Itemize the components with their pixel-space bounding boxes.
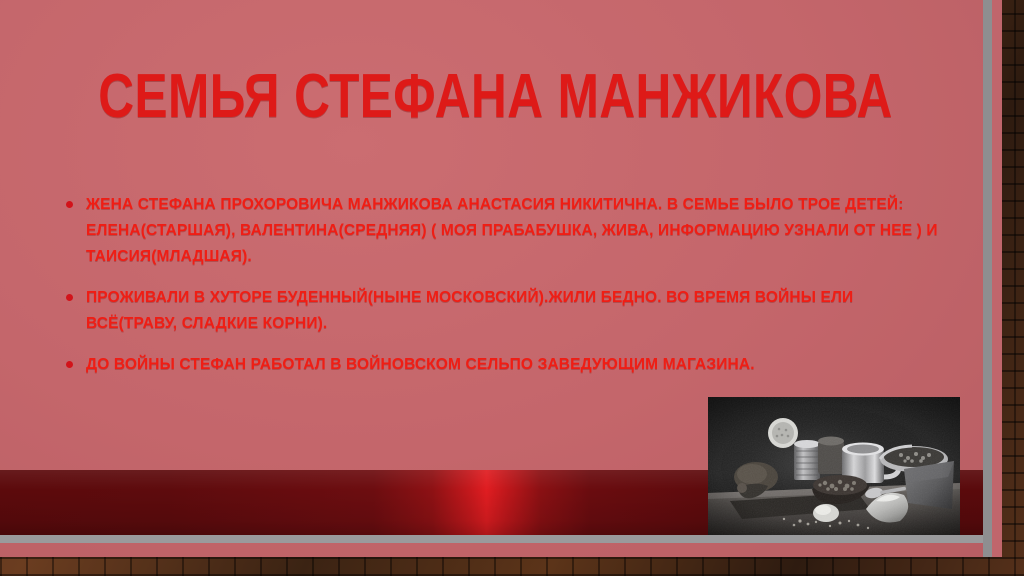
- bullet-dot-icon: [66, 294, 73, 301]
- list-item-text: ДО ВОЙНЫ СТЕФАН РАБОТАЛ В ВОЙНОВСКОМ СЕЛ…: [86, 352, 942, 378]
- bullet-list: ЖЕНА СТЕФАНА ПРОХОРОВИЧА МАНЖИКОВА АНАСТ…: [62, 192, 942, 378]
- bullet-dot-icon: [66, 361, 73, 368]
- right-vertical-rule: [983, 0, 992, 557]
- list-item: ЖЕНА СТЕФАНА ПРОХОРОВИЧА МАНЖИКОВА АНАСТ…: [62, 192, 942, 270]
- wartime-rations-photo-graphic: [708, 397, 960, 535]
- list-item: ДО ВОЙНЫ СТЕФАН РАБОТАЛ В ВОЙНОВСКОМ СЕЛ…: [62, 352, 942, 378]
- presentation-slide: СЕМЬЯ СТЕФАНА МАНЖИКОВА ЖЕНА СТЕФАНА ПРО…: [0, 0, 1024, 576]
- list-item-text: ЖЕНА СТЕФАНА ПРОХОРОВИЧА МАНЖИКОВА АНАСТ…: [86, 192, 942, 270]
- list-item-text: ПРОЖИВАЛИ В ХУТОРЕ БУДЕННЫЙ(НЫНЕ МОСКОВС…: [86, 285, 942, 337]
- page-title: СЕМЬЯ СТЕФАНА МАНЖИКОВА: [98, 66, 884, 128]
- wartime-rations-photo: [708, 397, 960, 535]
- right-outer-margin: [992, 0, 1002, 557]
- bullet-dot-icon: [66, 201, 73, 208]
- list-item: ПРОЖИВАЛИ В ХУТОРЕ БУДЕННЫЙ(НЫНЕ МОСКОВС…: [62, 285, 942, 337]
- banner-bottom-rule: [0, 535, 983, 543]
